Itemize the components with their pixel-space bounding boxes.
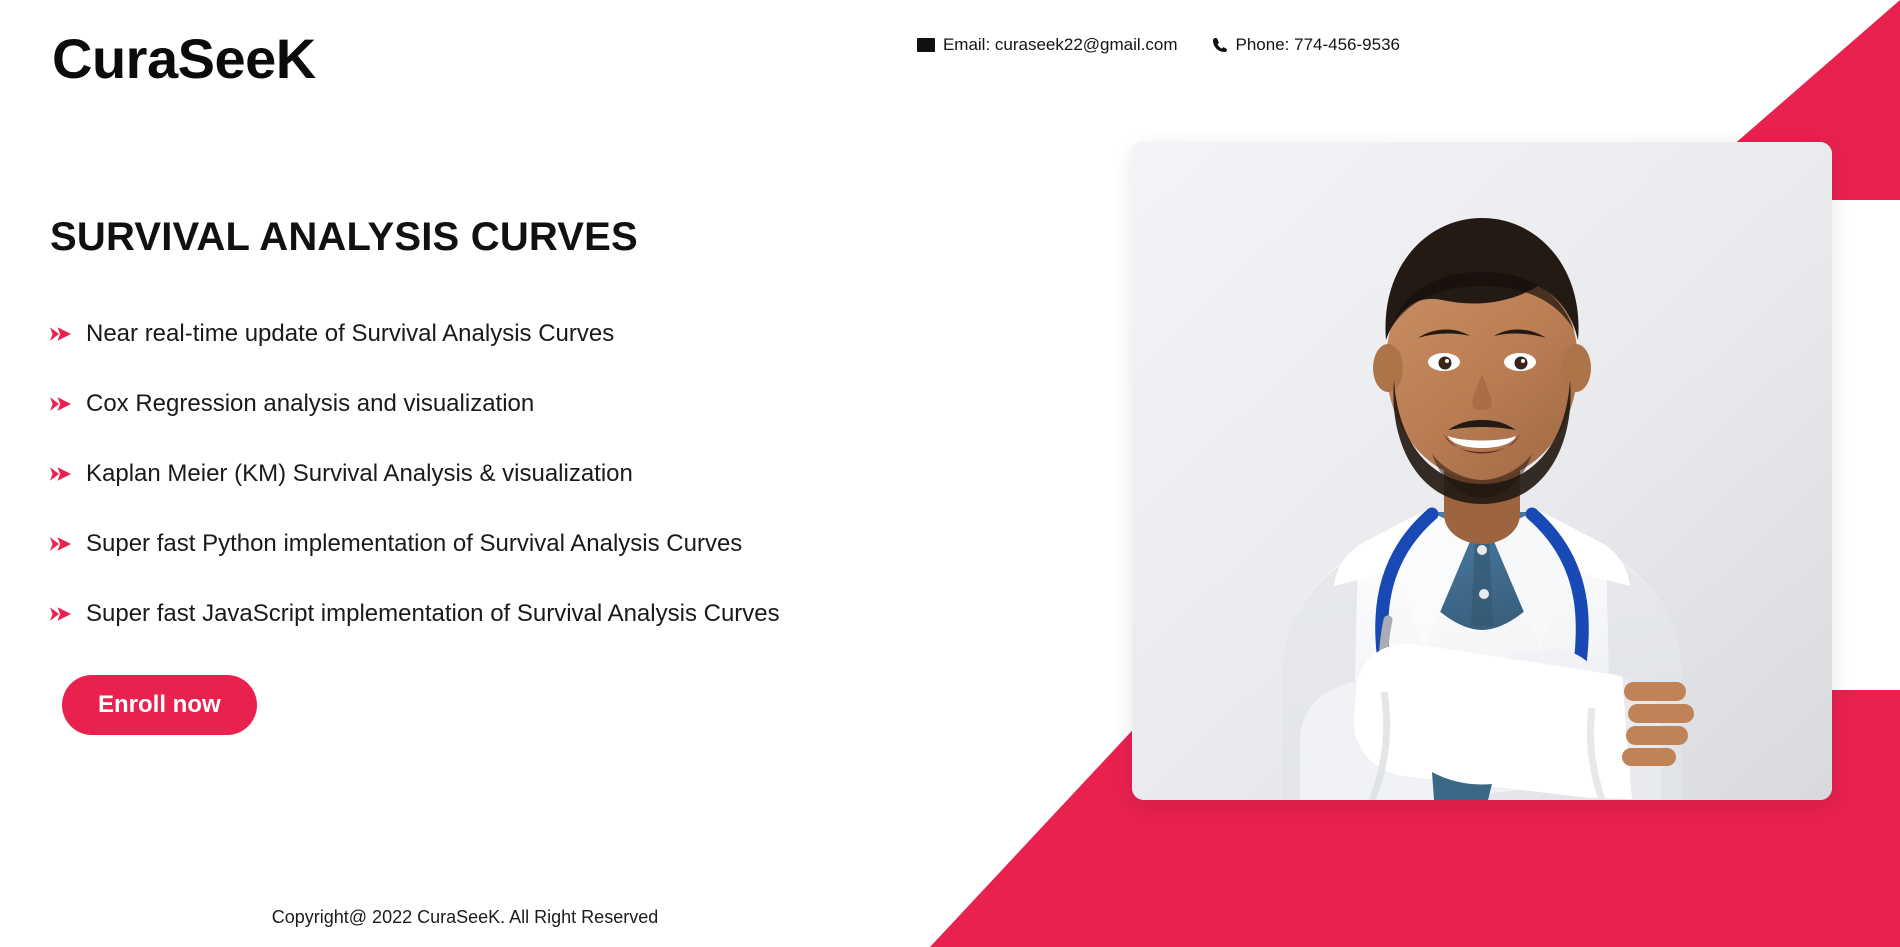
list-item-label: Super fast JavaScript implementation of … xyxy=(86,600,780,629)
site-footer: Copyright@ 2022 CuraSeeK. All Right Rese… xyxy=(0,887,930,947)
list-item: Kaplan Meier (KM) Survival Analysis & vi… xyxy=(50,439,950,509)
enroll-now-button[interactable]: Enroll now xyxy=(62,675,257,735)
feature-list: Near real-time update of Survival Analys… xyxy=(0,299,950,649)
doctor-illustration xyxy=(1132,142,1832,800)
contact-phone-label: Phone: 774-456-9536 xyxy=(1236,36,1400,53)
phone-icon xyxy=(1212,37,1228,53)
list-item: Super fast Python implementation of Surv… xyxy=(50,509,950,579)
list-item-label: Super fast Python implementation of Surv… xyxy=(86,530,742,559)
page-title: SURVIVAL ANALYSIS CURVES xyxy=(50,215,950,259)
arrow-right-icon xyxy=(50,605,72,623)
contact-email[interactable]: Email: curaseek22@gmail.com xyxy=(917,36,1178,53)
brand-logo[interactable]: CuraSeeK xyxy=(52,28,316,90)
list-item-label: Cox Regression analysis and visualizatio… xyxy=(86,390,534,419)
list-item-label: Near real-time update of Survival Analys… xyxy=(86,320,614,349)
arrow-right-icon xyxy=(50,325,72,343)
arrow-right-icon xyxy=(50,395,72,413)
copyright-text: Copyright@ 2022 CuraSeeK. All Right Rese… xyxy=(272,907,658,928)
contact-bar: Email: curaseek22@gmail.com Phone: 774-4… xyxy=(917,36,1400,53)
contact-phone[interactable]: Phone: 774-456-9536 xyxy=(1212,36,1400,53)
site-header: CuraSeeK Email: curaseek22@gmail.com Pho… xyxy=(0,0,1900,120)
arrow-right-icon xyxy=(50,535,72,553)
arrow-right-icon xyxy=(50,465,72,483)
hero-content: SURVIVAL ANALYSIS CURVES Near real-time … xyxy=(0,215,950,735)
list-item-label: Kaplan Meier (KM) Survival Analysis & vi… xyxy=(86,460,633,489)
envelope-icon xyxy=(917,38,935,52)
contact-email-label: Email: curaseek22@gmail.com xyxy=(943,36,1178,53)
doctor-photo xyxy=(1132,142,1832,800)
list-item: Super fast JavaScript implementation of … xyxy=(50,579,950,649)
list-item: Near real-time update of Survival Analys… xyxy=(50,299,950,369)
list-item: Cox Regression analysis and visualizatio… xyxy=(50,369,950,439)
